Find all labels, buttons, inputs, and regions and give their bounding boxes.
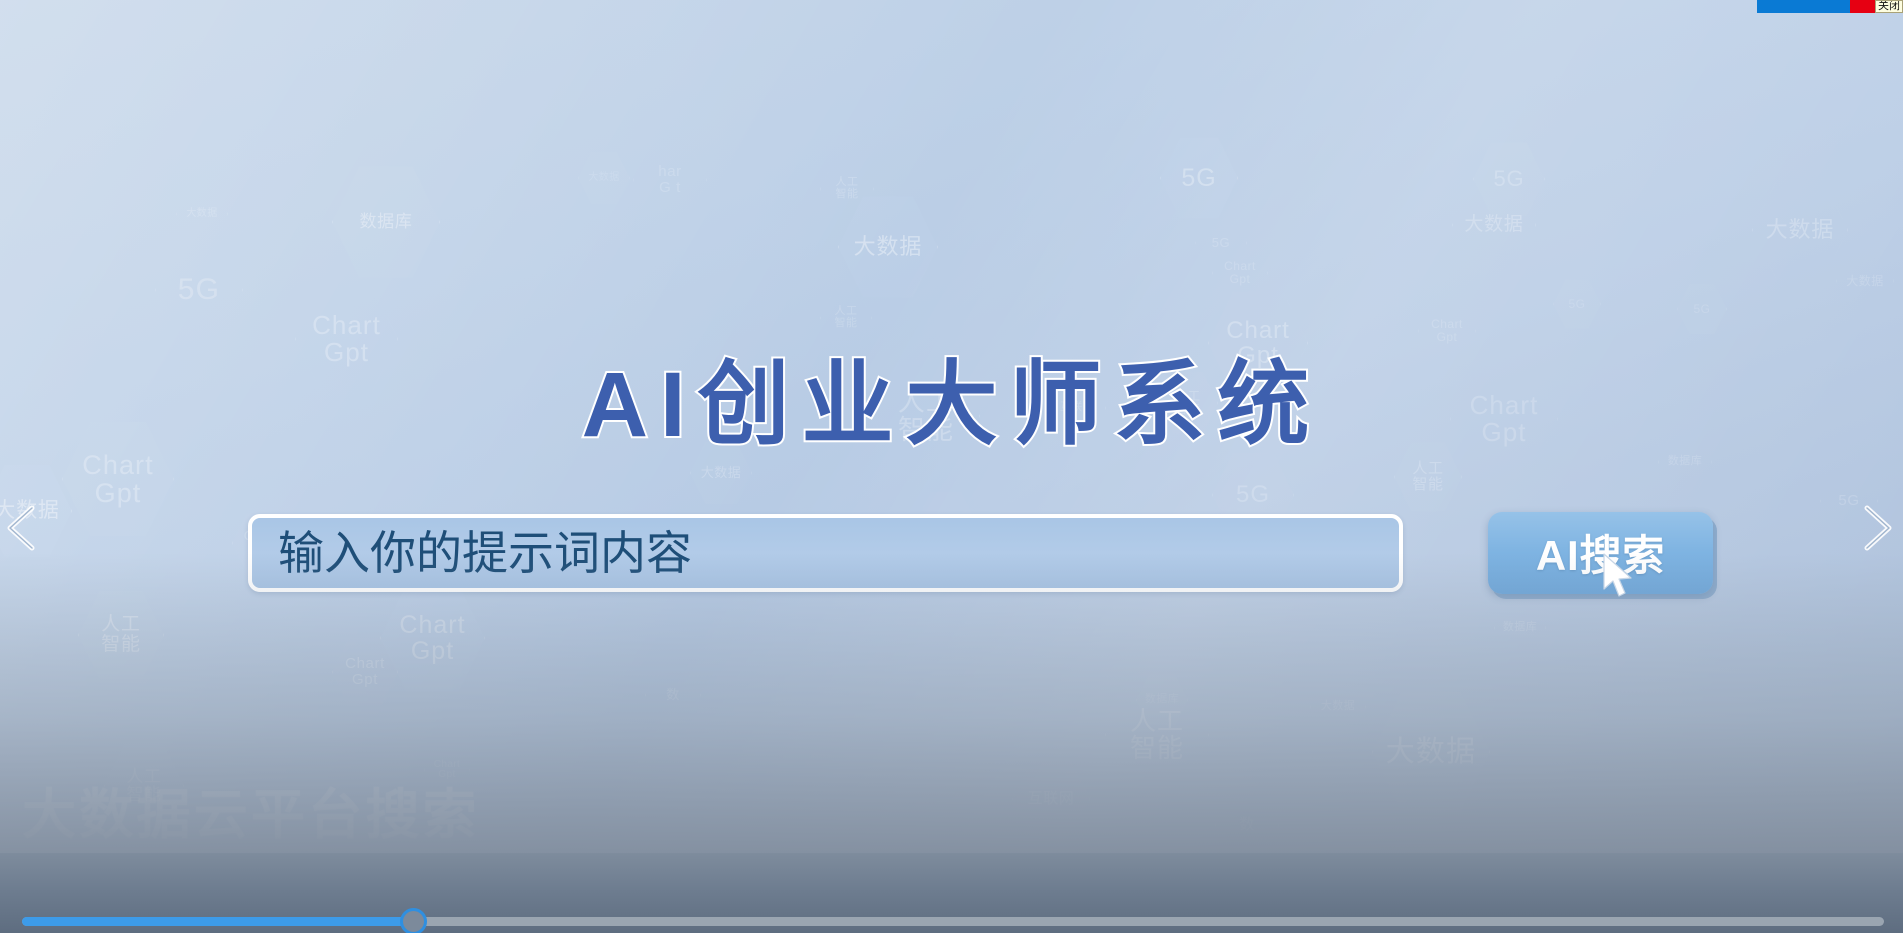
background-hexagon-label: 数 [1239,817,1255,833]
background-hexagon-label: 大数据 [1386,737,1476,767]
background-hexagon-label: 人工 智能 [835,306,858,329]
background-hexagon: 大数据 [1752,178,1848,282]
slider-thumb[interactable] [400,908,427,933]
background-hexagon-label: 大数据 [588,173,619,184]
background-hexagon: 5G [1553,278,1601,330]
page-scroll-slider[interactable] [22,917,1884,926]
background-hexagon: 大数据 [1372,688,1490,816]
chevron-left-icon[interactable] [0,498,50,558]
background-hexagon: 人工 智能 [78,588,164,682]
background-hexagon: 数据库 [1494,600,1546,656]
ai-search-button[interactable]: AI搜索 [1488,512,1713,594]
background-hexagon: 数据库 [1136,672,1188,728]
watermark-text: 大数据云平台搜索 [22,770,480,849]
background-hexagon-label: 大数据 [1464,215,1523,235]
background-hexagon: 人工 智能 [820,160,874,218]
background-hexagon: 数 [1215,790,1279,853]
chevron-right-icon[interactable] [1849,498,1901,558]
background-hexagon-label: 大数据 [1766,218,1835,241]
background-hexagon: 5G [1677,282,1727,336]
background-hexagon-label: 大数据 [854,235,923,258]
taskbar-blue-segment[interactable] [1757,0,1850,13]
background-hexagon: 5G [155,242,243,338]
background-hexagon-label: 大数据 [701,466,742,480]
background-hexagon-label: 人工 智能 [101,615,141,655]
background-hexagon: 互联网 [1012,757,1090,841]
background-hexagon: 大数据 [578,150,630,206]
hero-banner: 数据库5G大数据Chart GptChart Gpt大数据Chart Gpt人工… [0,0,1903,853]
slider-fill [22,917,413,926]
search-bar: AI搜索 [248,505,1713,600]
page-title: AI创业大师系统 [0,330,1903,463]
background-hexagon-label: 5G [1236,482,1270,507]
background-hexagon-label: 互联网 [1028,791,1075,807]
background-hexagon-label: Chart Gpt [399,612,465,665]
background-hexagon-label: 人工 智能 [836,177,859,200]
background-hexagon-label: 人工 智能 [1412,461,1443,493]
background-hexagon: har G t [633,140,707,220]
close-tooltip: 关闭 [1875,0,1903,13]
background-hexagon: 大数据 [1836,250,1894,312]
background-hexagon-label: 5G [178,274,220,306]
background-hexagon-label: 数 [666,688,680,702]
background-hexagon: 5G [1160,135,1238,221]
background-hexagon-label: har G t [658,164,681,196]
background-hexagon-label: 大数据 [186,209,217,220]
background-hexagon-label: 数据库 [1145,694,1179,706]
search-input[interactable] [248,514,1403,592]
background-hexagon-label: 5G [1569,298,1586,311]
background-hexagon-label: Chart Gpt [345,656,385,688]
background-hexagon-label: 大数据 [1321,701,1355,713]
background-hexagon-label: 5G [1181,165,1216,191]
background-hexagon-label: 数据库 [359,213,412,231]
background-hexagon: Chart Gpt [332,636,398,708]
background-hexagon: 大数据 [176,186,228,242]
background-hexagon: 大数据 [1452,180,1536,270]
background-hexagon: 数 [645,665,701,725]
background-hexagon-label: 5G [1694,303,1711,316]
background-hexagon-label: 数据库 [1503,622,1537,634]
background-hexagon: 大数据 [1310,677,1366,737]
window-controls-strip: 关闭 [1757,0,1903,13]
background-hexagon-label: 大数据 [1846,275,1883,288]
background-hexagon: 数据库 [332,163,440,281]
close-button[interactable] [1850,0,1875,13]
background-hexagon-label: Chart Gpt [1224,260,1256,285]
